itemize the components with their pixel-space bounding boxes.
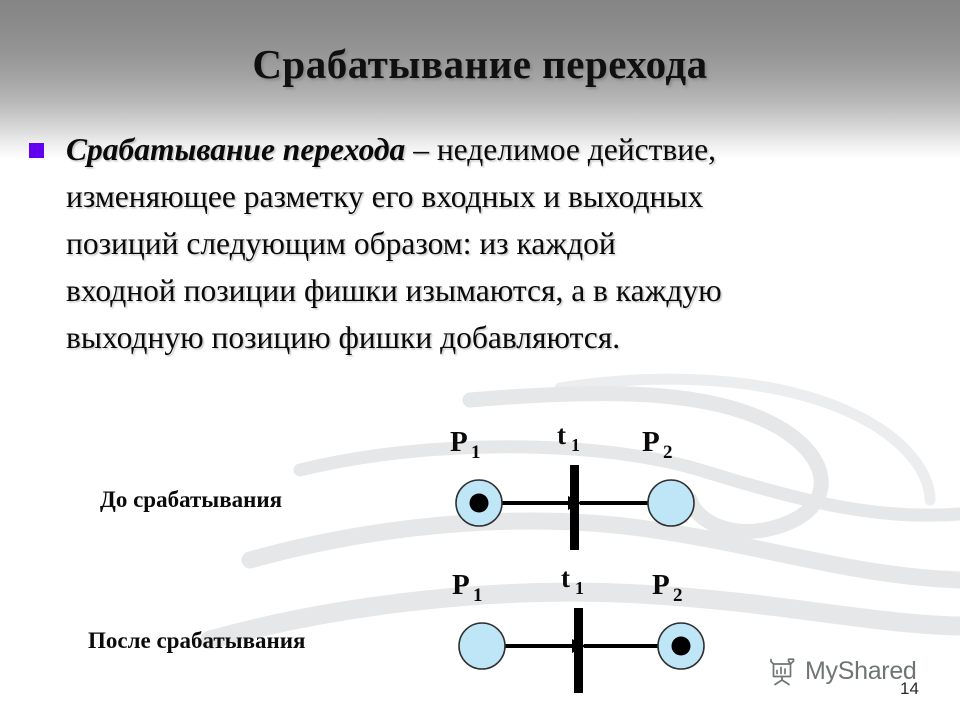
- transition-bar-t1-after: [574, 608, 583, 693]
- place-label-p1-after: P 1: [452, 569, 483, 606]
- slide-canvas: Срабатывание перехода Срабатывание перех…: [0, 0, 960, 720]
- place-label-p2-before-sub: 2: [663, 442, 673, 463]
- petri-net-after-firing: P 1 t 1 P 2: [430, 558, 740, 693]
- bullet-paragraph-block: Срабатывание перехода – неделимое действ…: [24, 126, 724, 361]
- place-label-p1-after-sub: 1: [473, 585, 483, 606]
- place-p2-after: [658, 623, 704, 669]
- place-label-p1-before-letter: P: [450, 426, 468, 458]
- transition-label-t1-before-letter: t: [557, 420, 566, 450]
- transition-bar-t1-before: [570, 465, 579, 550]
- myshared-watermark: MyShared: [768, 657, 917, 686]
- caption-before-firing: До срабатывания: [100, 487, 282, 513]
- bullet-square-icon: [29, 143, 44, 158]
- place-label-p2-after-sub: 2: [673, 585, 683, 606]
- place-label-p2-before-letter: P: [642, 426, 660, 458]
- token-p2-after: [672, 637, 691, 656]
- transition-label-t1-after: t 1: [561, 563, 584, 598]
- place-label-p2-before: P 2: [642, 426, 673, 463]
- transition-label-t1-after-sub: 1: [575, 578, 584, 598]
- place-label-p2-after-letter: P: [652, 569, 670, 601]
- transition-label-t1-before: t 1: [557, 420, 580, 455]
- token-p1-before: [470, 494, 489, 513]
- place-p1-before: [456, 480, 502, 526]
- arc-p1-to-t1-after: [505, 639, 586, 653]
- caption-after-firing: После срабатывания: [88, 628, 306, 654]
- page-number: 14: [900, 679, 919, 699]
- transition-label-t1-after-letter: t: [561, 563, 570, 593]
- flipchart-icon: [768, 658, 798, 686]
- petri-net-before-firing: P 1 t 1 P 2: [430, 415, 740, 550]
- place-label-p1-before-sub: 1: [471, 442, 481, 463]
- slide-title: Срабатывание перехода: [0, 40, 960, 88]
- transition-label-t1-before-sub: 1: [571, 435, 580, 455]
- place-label-p1-after-letter: P: [452, 569, 470, 601]
- body-paragraph: Срабатывание перехода – неделимое действ…: [24, 126, 724, 361]
- place-p1-after: [459, 623, 505, 669]
- body-lead-term: Срабатывание перехода: [66, 132, 405, 167]
- place-label-p2-after: P 2: [652, 569, 683, 606]
- place-label-p1-before: P 1: [450, 426, 481, 463]
- place-p2-before: [648, 480, 694, 526]
